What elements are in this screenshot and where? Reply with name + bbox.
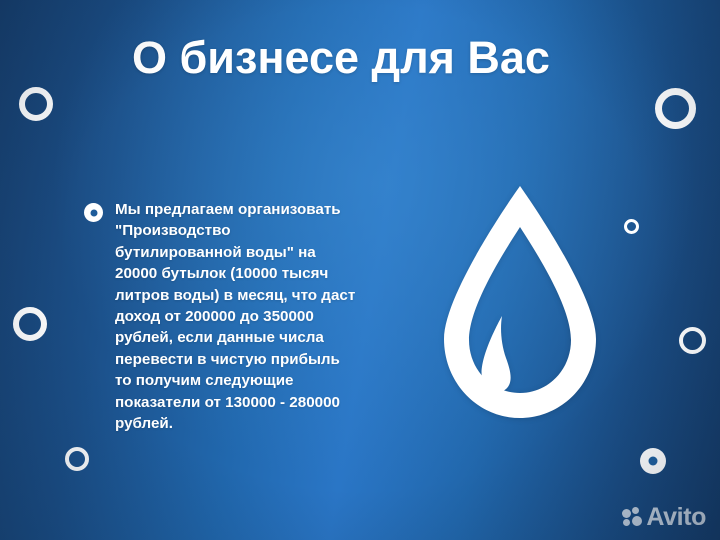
bullet-body-text: Мы предлагаем организовать "Производство…: [115, 199, 359, 434]
avito-logo-icon: [622, 507, 643, 528]
water-drop-icon: [444, 186, 596, 418]
slide-canvas: О бизнесе для Вас Мы предлагаем организо…: [0, 0, 720, 540]
circle-ring-icon: [13, 307, 47, 341]
circle-ring-icon: [65, 447, 89, 471]
circle-ring-icon: [679, 327, 706, 354]
circle-donut-icon: [640, 448, 666, 474]
avito-wordmark: Avito: [646, 505, 706, 530]
bullet-list-item: Мы предлагаем организовать "Производство…: [84, 199, 374, 434]
circle-ring-icon: [624, 219, 639, 234]
donut-bullet-icon: [84, 203, 103, 222]
circle-ring-icon: [19, 87, 53, 121]
avito-watermark: Avito: [622, 505, 706, 530]
circle-ring-icon: [655, 88, 696, 129]
page-title: О бизнесе для Вас: [132, 32, 550, 84]
